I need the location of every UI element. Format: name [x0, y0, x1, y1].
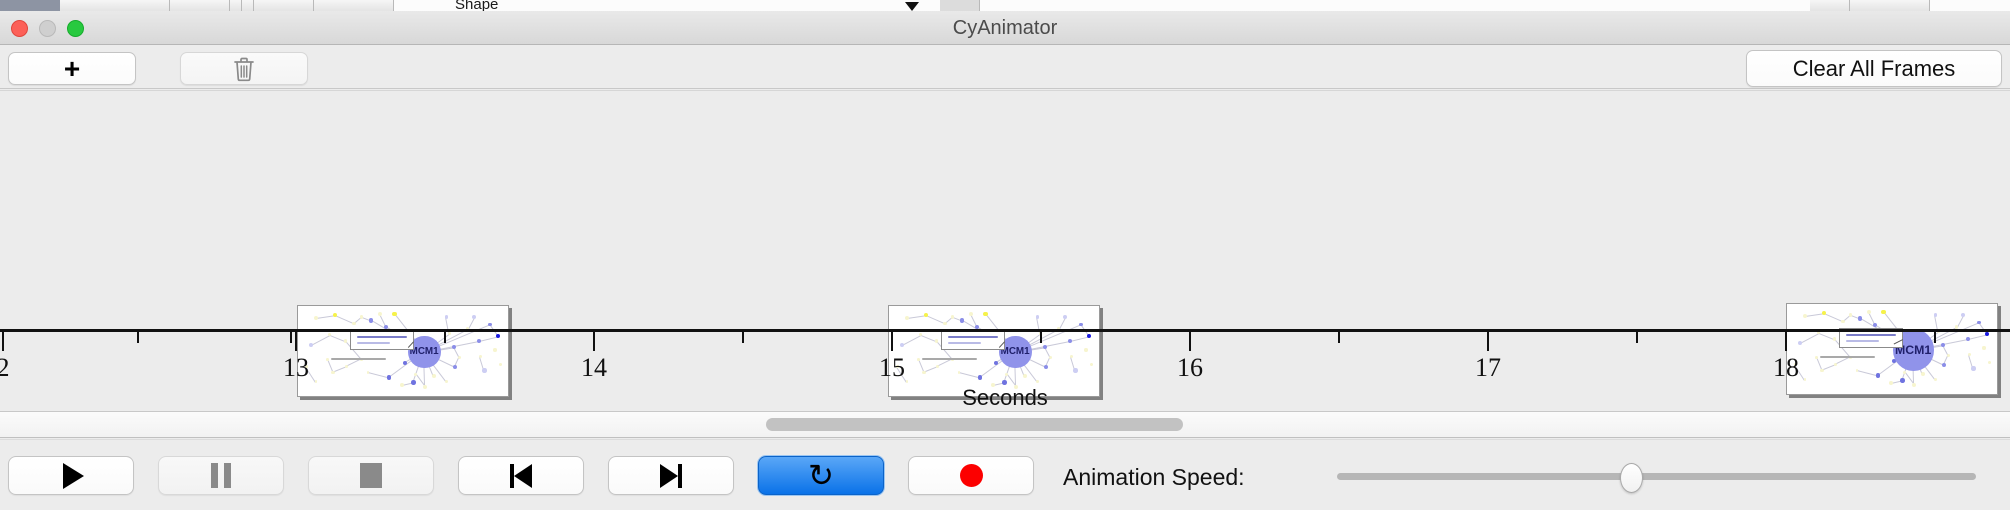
background-tab — [1810, 0, 1850, 11]
ruler-tick — [1338, 332, 1340, 343]
cyanimator-window: Shape CyAnimator + Clear All Frames MCM1… — [0, 0, 2010, 510]
ruler-tick — [1785, 332, 1787, 351]
skip-start-button[interactable] — [458, 456, 584, 495]
time-ruler: 2131415161718 Seconds — [0, 315, 2010, 412]
record-icon — [960, 464, 983, 487]
background-tab — [60, 0, 170, 11]
ruler-tick — [444, 332, 446, 343]
toolbar: + Clear All Frames — [0, 45, 2010, 89]
ruler-tick — [742, 332, 744, 343]
skip-end-button[interactable] — [608, 456, 734, 495]
ruler-tick-label: 2 — [0, 353, 10, 383]
background-tab — [230, 0, 242, 11]
skip-back-icon — [508, 463, 534, 489]
ruler-tick — [2, 332, 4, 351]
background-tab — [314, 0, 394, 11]
playback-bar: ↻ Animation Speed: — [0, 439, 2010, 510]
ruler-tick — [1040, 332, 1042, 343]
animation-speed-thumb[interactable] — [1620, 463, 1643, 493]
loop-button[interactable]: ↻ — [758, 456, 884, 495]
background-tab — [940, 0, 980, 11]
ruler-tick — [1934, 332, 1936, 343]
timeline-scrollbar[interactable] — [0, 412, 2010, 438]
delete-frame-button[interactable] — [180, 52, 308, 85]
title-bar: CyAnimator — [0, 11, 2010, 45]
animation-speed-label: Animation Speed: — [1063, 464, 1245, 491]
background-tab — [170, 0, 230, 11]
background-caret-icon — [905, 2, 919, 11]
network-node — [1867, 310, 1871, 314]
ruler-tick-label: 16 — [1177, 353, 1203, 383]
skip-forward-icon — [658, 463, 684, 489]
play-button[interactable] — [8, 456, 134, 495]
timeline-panel[interactable]: MCM1MCM1MCM1 2131415161718 Seconds — [0, 90, 2010, 412]
clear-all-frames-button[interactable]: Clear All Frames — [1746, 50, 2002, 87]
add-frame-button[interactable]: + — [8, 52, 136, 85]
background-tab — [1850, 0, 1930, 11]
ruler-tick — [891, 332, 893, 351]
stop-button — [308, 456, 434, 495]
record-button[interactable] — [908, 456, 1034, 495]
ruler-tick — [295, 332, 297, 351]
ruler-tick — [137, 332, 139, 343]
pause-icon — [211, 463, 231, 488]
ruler-tick-label: 17 — [1475, 353, 1501, 383]
network-node — [1881, 310, 1885, 314]
pause-button — [158, 456, 284, 495]
stop-icon — [360, 463, 382, 488]
ruler-tick-label: 13 — [283, 353, 309, 383]
ruler-tick-label: 15 — [879, 353, 905, 383]
axis-title: Seconds — [0, 385, 2010, 411]
trash-icon — [233, 56, 255, 82]
ruler-tick — [1487, 332, 1489, 351]
background-window-label: Shape — [455, 0, 498, 11]
window-title: CyAnimator — [0, 11, 2010, 45]
ruler-tick — [1636, 332, 1638, 343]
play-icon — [63, 463, 84, 489]
loop-icon: ↻ — [808, 460, 834, 491]
frames-track: MCM1MCM1MCM1 — [0, 91, 2010, 315]
background-sidebar — [0, 0, 60, 11]
ruler-tick-label: 14 — [581, 353, 607, 383]
ruler-tick-label: 18 — [1773, 353, 1799, 383]
background-tab — [254, 0, 314, 11]
ruler-tick — [290, 332, 292, 343]
ruler-tick — [1189, 332, 1191, 351]
ruler-tick — [593, 332, 595, 351]
background-tab — [242, 0, 254, 11]
scrollbar-thumb[interactable] — [766, 418, 1183, 431]
background-window-strip: Shape — [0, 0, 2010, 11]
clear-all-frames-label: Clear All Frames — [1793, 56, 1956, 82]
plus-icon: + — [64, 55, 80, 83]
animation-speed-slider[interactable] — [1337, 473, 1976, 480]
ruler-baseline — [0, 329, 2010, 332]
